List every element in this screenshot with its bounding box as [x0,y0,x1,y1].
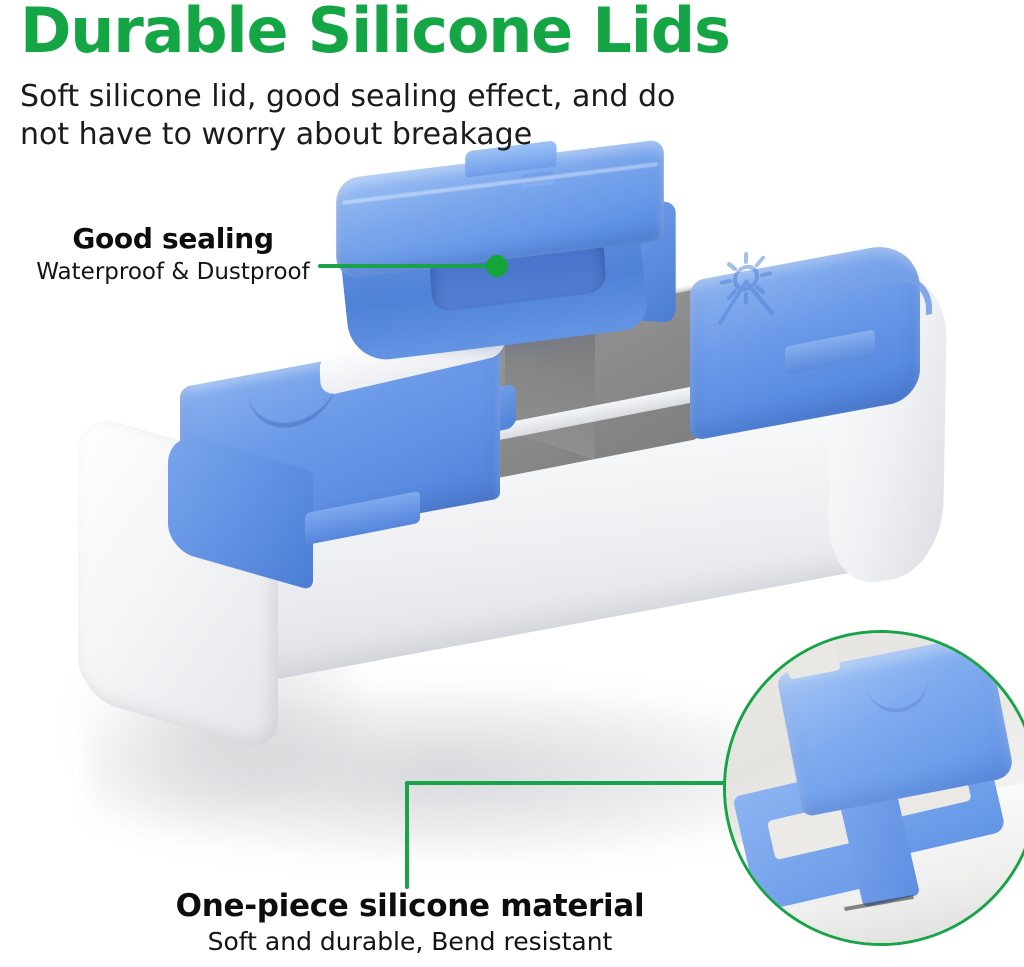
leader-dot-good-sealing [486,255,508,277]
leader-line-material-horizontal [407,781,725,785]
leader-line-good-sealing [318,264,493,268]
page-subtitle: Soft silicone lid, good sealing effect, … [20,78,720,155]
callout-one-piece-material-subtitle: Soft and durable, Bend resistant [150,927,670,956]
page-title: Durable Silicone Lids [20,0,730,67]
silicone-clip-closeup-inset [723,630,1024,946]
page-subtitle-line-2: not have to worry about breakage [20,116,720,154]
infographic-canvas: Durable Silicone Lids Soft silicone lid,… [0,0,1024,967]
callout-good-sealing-title: Good sealing [18,222,328,255]
callout-good-sealing-subtitle: Waterproof & Dustproof [18,259,328,285]
callout-one-piece-material-title: One-piece silicone material [150,888,670,924]
callout-one-piece-material: One-piece silicone material Soft and dur… [150,888,670,956]
callout-good-sealing: Good sealing Waterproof & Dustproof [18,222,328,285]
page-subtitle-line-1: Soft silicone lid, good sealing effect, … [20,78,720,116]
leader-line-material-vertical [405,781,409,889]
